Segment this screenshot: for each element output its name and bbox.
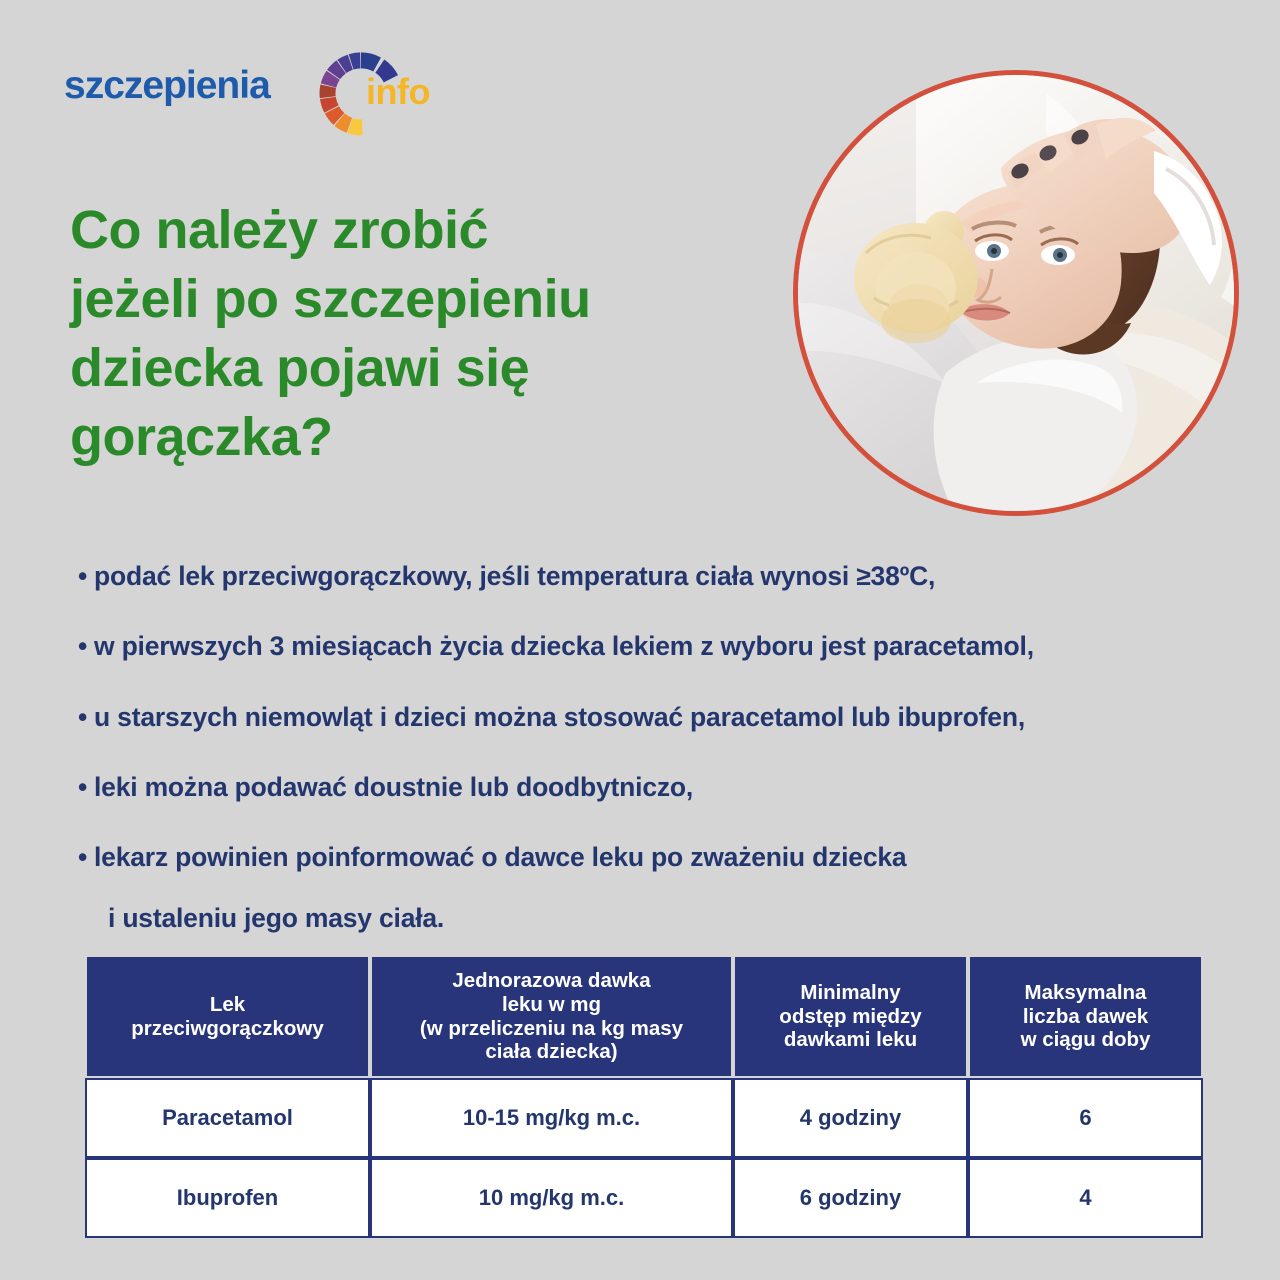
cell-single-dose: 10-15 mg/kg m.c.	[370, 1078, 733, 1158]
list-item: •leki można podawać doustnie lub doodbyt…	[78, 771, 1198, 803]
list-item-text: leki można podawać doustnie lub doodbytn…	[94, 772, 693, 802]
bullet-marker: •	[78, 630, 94, 662]
title-line-3: dziecka pojawi się	[70, 334, 730, 403]
brand-logo[interactable]: szczepienia info	[64, 52, 394, 130]
cell-drug: Paracetamol	[85, 1078, 370, 1158]
list-item: •lekarz powinien poinformować o dawce le…	[78, 841, 1198, 934]
table-header-row: Lek przeciwgorączkowy Jednorazowa dawka …	[85, 955, 1203, 1078]
header-line: Minimalny	[741, 981, 960, 1005]
header-line: leku w mg	[378, 993, 725, 1017]
table-row: Paracetamol 10-15 mg/kg m.c. 4 godziny 6	[85, 1078, 1203, 1158]
hero-photo-image	[798, 75, 1234, 511]
header-line: liczba dawek	[976, 1005, 1195, 1029]
cell-min-interval: 4 godziny	[733, 1078, 968, 1158]
bullet-marker: •	[78, 841, 94, 873]
bullet-marker: •	[78, 701, 94, 733]
table-body: Paracetamol 10-15 mg/kg m.c. 4 godziny 6…	[85, 1078, 1203, 1238]
header-line: Jednorazowa dawka	[378, 969, 725, 993]
header-line: Maksymalna	[976, 981, 1195, 1005]
table-row: Ibuprofen 10 mg/kg m.c. 6 godziny 4	[85, 1158, 1203, 1238]
brand-info-text: info	[366, 74, 430, 110]
column-header-single-dose: Jednorazowa dawka leku w mg (w przelicze…	[370, 955, 733, 1078]
bullet-marker: •	[78, 560, 94, 592]
list-item: •u starszych niemowląt i dzieci można st…	[78, 701, 1198, 733]
cell-max-doses: 4	[968, 1158, 1203, 1238]
list-item-text: u starszych niemowląt i dzieci można sto…	[94, 702, 1025, 732]
column-header-min-interval: Minimalny odstęp między dawkami leku	[733, 955, 968, 1078]
cell-single-dose: 10 mg/kg m.c.	[370, 1158, 733, 1238]
cell-drug: Ibuprofen	[85, 1158, 370, 1238]
brand-wordmark: szczepienia	[64, 66, 270, 105]
column-header-max-doses: Maksymalna liczba dawek w ciągu doby	[968, 955, 1203, 1078]
title-line-2: jeżeli po szczepieniu	[70, 265, 730, 334]
header-line: (w przeliczeniu na kg masy	[378, 1017, 725, 1041]
header-line: ciała dziecka)	[378, 1040, 725, 1064]
cell-max-doses: 6	[968, 1078, 1203, 1158]
advice-list: •podać lek przeciwgorączkowy, jeśli temp…	[78, 560, 1198, 972]
hero-photo	[793, 70, 1239, 516]
list-item-text: podać lek przeciwgorączkowy, jeśli tempe…	[94, 561, 935, 591]
list-item-text-continuation: i ustaleniu jego masy ciała.	[78, 902, 1198, 934]
infographic-page: szczepienia info Co	[0, 0, 1280, 1280]
list-item: •w pierwszych 3 miesiącach życia dziecka…	[78, 630, 1198, 662]
header-line: Lek	[93, 993, 362, 1017]
list-item-text: lekarz powinien poinformować o dawce lek…	[94, 842, 906, 872]
header-line: w ciągu doby	[976, 1028, 1195, 1052]
list-item: •podać lek przeciwgorączkowy, jeśli temp…	[78, 560, 1198, 592]
column-header-drug: Lek przeciwgorączkowy	[85, 955, 370, 1078]
cell-min-interval: 6 godziny	[733, 1158, 968, 1238]
page-title: Co należy zrobić jeżeli po szczepieniu d…	[70, 196, 730, 472]
list-item-text: w pierwszych 3 miesiącach życia dziecka …	[94, 631, 1034, 661]
header-line: przeciwgorączkowy	[93, 1017, 362, 1041]
header-line: dawkami leku	[741, 1028, 960, 1052]
dosage-table: Lek przeciwgorączkowy Jednorazowa dawka …	[85, 955, 1203, 1238]
title-line-1: Co należy zrobić	[70, 196, 730, 265]
title-line-4: gorączka?	[70, 403, 730, 472]
header-line: odstęp między	[741, 1005, 960, 1029]
bullet-marker: •	[78, 771, 94, 803]
table-header: Lek przeciwgorączkowy Jednorazowa dawka …	[85, 955, 1203, 1078]
